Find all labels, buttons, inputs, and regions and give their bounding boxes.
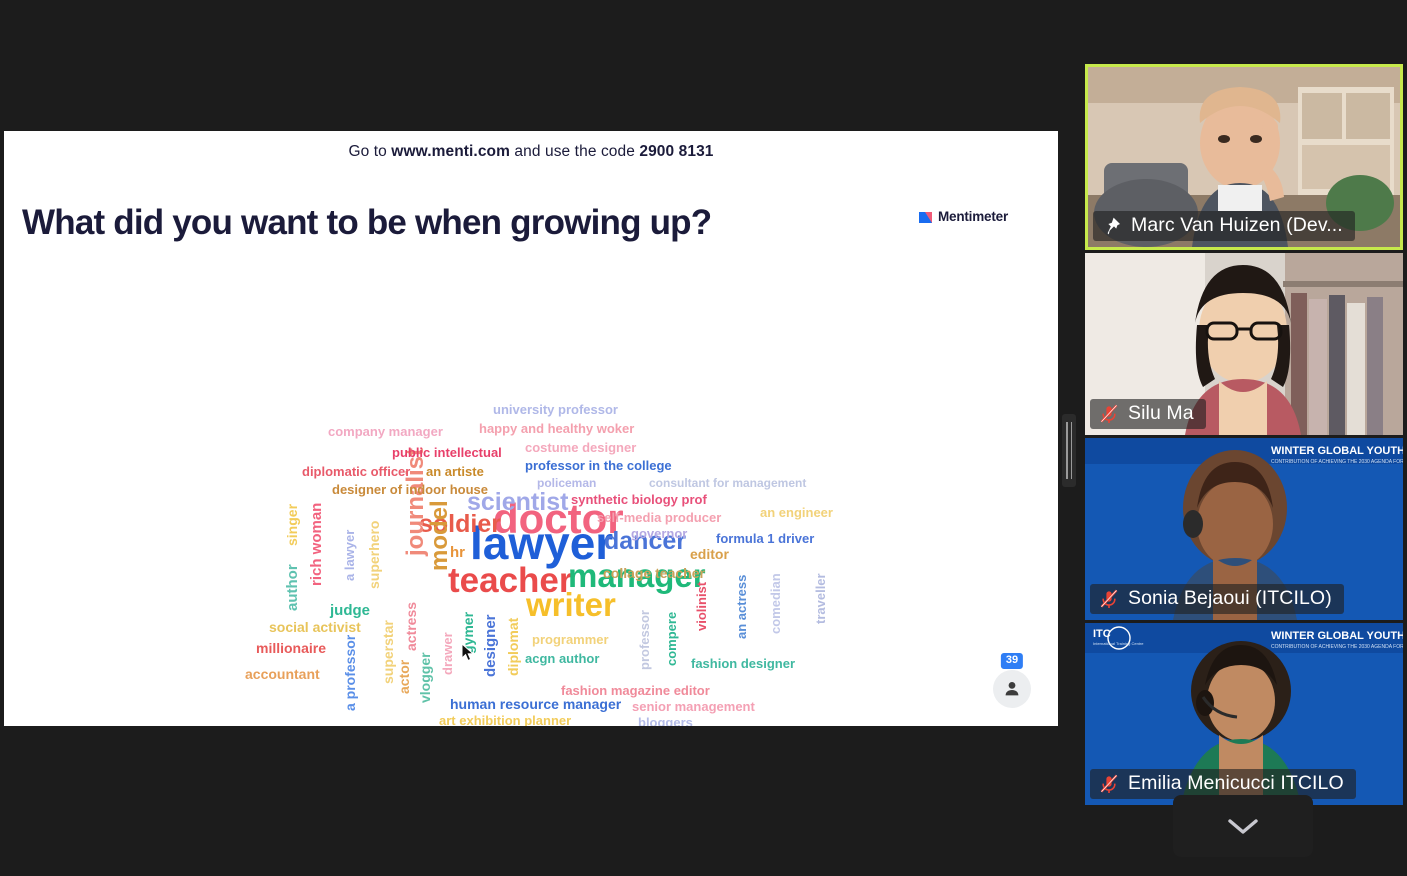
- word-cloud: lawyerdoctorteachermanagerwriterdancersc…: [4, 131, 1058, 726]
- video-tile-participant-2[interactable]: WINTER GLOBAL YOUTH FORUM 2022 CONTRIBUT…: [1085, 438, 1403, 620]
- word-cloud-item: author: [285, 564, 300, 611]
- word-cloud-item: art exhibition planner: [439, 714, 571, 726]
- chevron-down-icon: [1224, 815, 1262, 837]
- svg-text:CONTRIBUTION OF ACHIEVING THE: CONTRIBUTION OF ACHIEVING THE 2030 AGEND…: [1271, 459, 1403, 465]
- drag-handle-line: [1066, 422, 1068, 479]
- word-cloud-item: professor: [638, 610, 651, 670]
- mic-muted-icon: [1098, 588, 1120, 610]
- word-cloud-item: superhero: [367, 521, 381, 589]
- word-cloud-item: comedian: [769, 573, 782, 634]
- word-cloud-item: human resource manager: [450, 697, 621, 711]
- word-cloud-item: happy and healthy woker: [479, 422, 634, 435]
- word-cloud-item: professor in the college: [525, 459, 672, 472]
- word-cloud-item: actor: [397, 660, 411, 694]
- word-cloud-item: formula 1 driver: [716, 532, 814, 545]
- word-cloud-item: bloggers: [638, 716, 693, 726]
- word-cloud-item: judge: [330, 603, 370, 618]
- word-cloud-item: senior management: [632, 700, 755, 713]
- word-cloud-item: acgn author: [525, 652, 599, 665]
- mic-muted-icon: [1098, 773, 1120, 795]
- participant-video-panel: Marc Van Huizen (Dev...: [1085, 64, 1403, 808]
- forum-banner-text: WINTER GLOBAL YOUTH FORUM 2022: [1271, 445, 1403, 457]
- word-cloud-item: costume designer: [525, 441, 636, 454]
- word-cloud-item: singer: [285, 504, 299, 546]
- word-cloud-item: synthetic biology prof: [571, 493, 707, 506]
- word-cloud-item: programmer: [532, 633, 609, 646]
- word-cloud-item: fashion magazine editor: [561, 684, 710, 697]
- participant-name-bar-2: Sonia Bejaoui (ITCILO): [1090, 584, 1344, 614]
- word-cloud-item: a professor: [343, 635, 357, 711]
- svg-text:CONTRIBUTION OF ACHIEVING THE: CONTRIBUTION OF ACHIEVING THE 2030 AGEND…: [1271, 644, 1403, 650]
- scroll-down-button[interactable]: [1173, 795, 1313, 857]
- word-cloud-item: designer: [483, 614, 498, 677]
- word-cloud-item: governor: [631, 527, 687, 540]
- participant-name-bar-1: Silu Ma: [1090, 399, 1206, 429]
- participant-name-3: Emilia Menicucci ITCILO: [1128, 772, 1344, 795]
- word-cloud-item: writer: [526, 588, 616, 621]
- word-cloud-item: diplomatic officer: [302, 465, 410, 478]
- word-cloud-item: fashion designer: [691, 657, 795, 670]
- word-cloud-item: an actress: [735, 575, 748, 639]
- word-cloud-item: drawer: [441, 632, 454, 675]
- video-tile-participant-3[interactable]: ITC International Training Centre WINTER…: [1085, 623, 1403, 805]
- word-cloud-item: university professor: [493, 403, 618, 416]
- person-icon: [993, 670, 1031, 708]
- video-tile-participant-0[interactable]: Marc Van Huizen (Dev...: [1085, 64, 1403, 250]
- word-cloud-item: editor: [690, 547, 729, 561]
- participant-name-0: Marc Van Huizen (Dev...: [1131, 214, 1343, 237]
- word-cloud-item: traveller: [814, 573, 827, 624]
- word-cloud-item: collage teacher: [603, 566, 705, 580]
- word-cloud-item: vlogger: [418, 652, 432, 703]
- panel-drag-handle[interactable]: [1062, 414, 1076, 487]
- word-cloud-item: an engineer: [760, 506, 833, 519]
- word-cloud-item: compere: [665, 612, 678, 666]
- pin-icon: [1101, 215, 1123, 237]
- participant-name-bar-0: Marc Van Huizen (Dev...: [1093, 211, 1355, 241]
- zoom-meeting-window: Go to www.menti.com and use the code 290…: [0, 0, 1407, 876]
- word-cloud-item: public intellectual: [392, 446, 502, 459]
- word-cloud-item: company manager: [328, 425, 443, 438]
- word-cloud-item: social activist: [269, 620, 361, 634]
- word-cloud-item: hr: [450, 545, 465, 560]
- word-cloud-item: actress: [404, 602, 418, 651]
- word-cloud-item: an artiste: [426, 465, 484, 478]
- person-glyph-icon: [1003, 680, 1021, 698]
- mouse-cursor-icon: [461, 643, 475, 663]
- shared-screen-slide[interactable]: Go to www.menti.com and use the code 290…: [4, 131, 1058, 726]
- word-cloud-item: self-media producer: [597, 511, 721, 524]
- video-tile-participant-1[interactable]: Silu Ma: [1085, 253, 1403, 435]
- drag-handle-line: [1071, 422, 1073, 479]
- word-cloud-item: diplomat: [506, 618, 520, 676]
- word-cloud-item: policeman: [537, 477, 596, 489]
- svg-text:WINTER GLOBAL YOUTH FORUM 2022: WINTER GLOBAL YOUTH FORUM 2022: [1271, 630, 1403, 642]
- word-cloud-item: superstar: [381, 620, 395, 684]
- word-cloud-item: consultant for management: [649, 477, 806, 489]
- word-cloud-item: a lawyer: [343, 530, 356, 581]
- word-cloud-item: accountant: [245, 667, 320, 681]
- itc-logo-text: ITC: [1093, 628, 1111, 640]
- word-cloud-item: millionaire: [256, 641, 326, 655]
- word-cloud-item: rich woman: [309, 503, 324, 586]
- word-cloud-item: violinist: [695, 582, 708, 631]
- participant-name-2: Sonia Bejaoui (ITCILO): [1128, 587, 1332, 610]
- participant-count-badge: 39: [1000, 652, 1024, 670]
- participant-name-1: Silu Ma: [1128, 402, 1194, 425]
- mic-muted-icon: [1098, 403, 1120, 425]
- word-cloud-item: designer of indoor house: [332, 483, 488, 496]
- word-cloud-item: model: [428, 500, 452, 571]
- svg-text:International Training Centre: International Training Centre: [1093, 641, 1144, 646]
- slide-participant-counter: 39: [992, 652, 1032, 708]
